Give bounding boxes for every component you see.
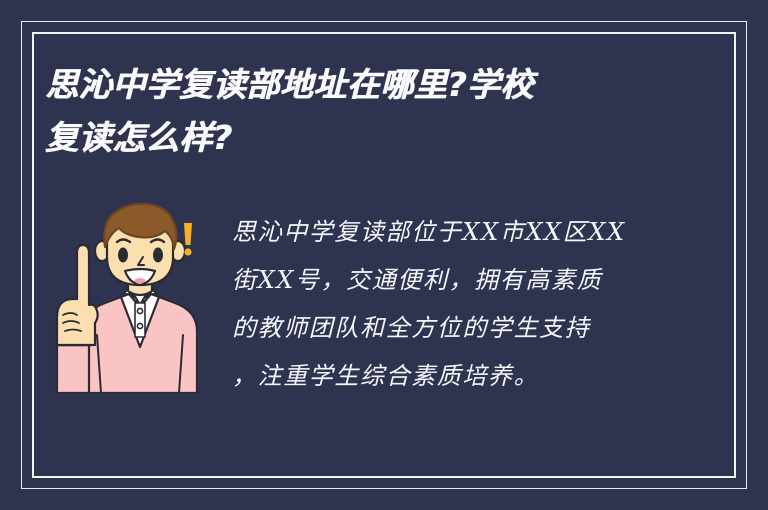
poster-card: 思沁中学复读部地址在哪里?学校 复读怎么样? <box>0 0 768 510</box>
page-title: 思沁中学复读部地址在哪里?学校 复读怎么样? <box>45 58 645 164</box>
body-text: 思沁中学复读部位于XX市XX区XX 街XX号，交通便利，拥有高素质 的教师团队和… <box>232 208 652 400</box>
page-title-line-2: 复读怎么样? <box>45 111 645 164</box>
body-text-line-4: ，注重学生综合素质培养。 <box>232 352 652 400</box>
sleeve-left-arm <box>57 345 89 393</box>
shirt-button-top <box>137 308 142 313</box>
right-eye <box>153 248 163 263</box>
body-text-line-1: 思沁中学复读部位于XX市XX区XX <box>232 208 652 256</box>
body-text-line-3: 的教师团队和全方位的学生支持 <box>232 304 652 352</box>
page-title-line-1: 思沁中学复读部地址在哪里?学校 <box>45 58 645 111</box>
left-eye <box>118 248 128 263</box>
body-text-line-2: 街XX号，交通便利，拥有高素质 <box>232 256 652 304</box>
pointing-person-illustration <box>55 195 220 393</box>
shirt-button-bottom <box>137 323 142 328</box>
exclamation-mark-icon <box>184 223 192 256</box>
